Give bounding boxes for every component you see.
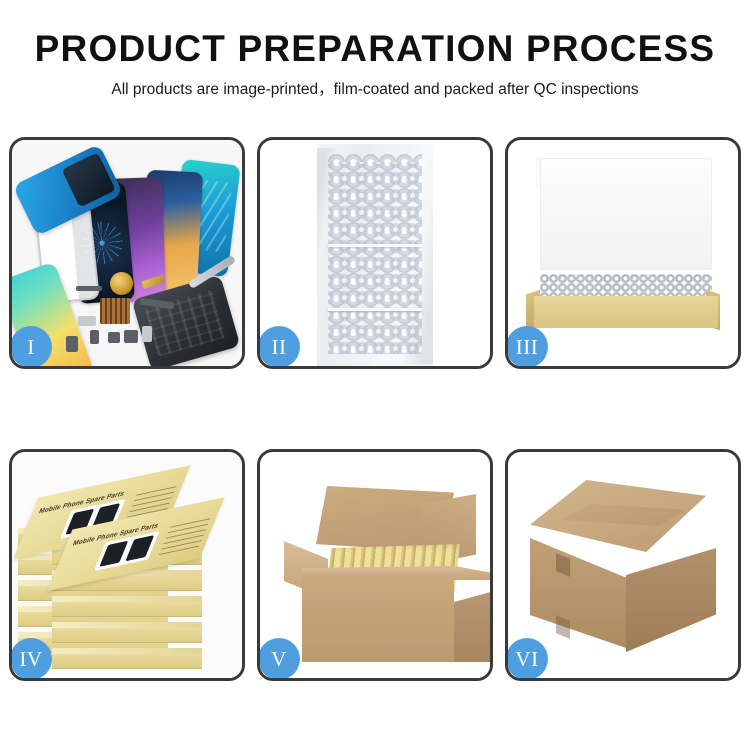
box-lid-panel xyxy=(540,158,712,270)
step-badge-5: V xyxy=(258,638,300,680)
process-step-1[interactable]: I xyxy=(9,137,245,369)
part-metal-shield xyxy=(78,316,96,326)
process-step-grid: I II III xyxy=(9,137,743,681)
kraft-tray-front xyxy=(534,296,718,328)
part-connector-a xyxy=(90,330,99,344)
process-step-3[interactable]: III xyxy=(505,137,741,369)
step-badge-2: II xyxy=(258,326,300,368)
carton-front-face xyxy=(302,578,454,662)
retail-box-layer-8 xyxy=(52,596,202,616)
page-subtitle: All products are image-printed，film-coat… xyxy=(0,82,750,98)
step-badge-1: I xyxy=(10,326,52,368)
step-badge-4: IV xyxy=(10,638,52,680)
bubble-wrap-seam-lower xyxy=(328,308,422,311)
process-step-2[interactable]: II xyxy=(257,137,493,369)
carton-side-face xyxy=(454,590,490,662)
step-badge-3: III xyxy=(506,326,548,368)
part-sim-tray xyxy=(142,326,152,342)
page-header: PRODUCT PREPARATION PROCESS All products… xyxy=(0,0,750,98)
bubble-wrap-shading xyxy=(317,148,433,364)
part-chip-grid xyxy=(100,298,130,324)
process-step-6[interactable]: VI xyxy=(505,449,741,681)
bubble-wrap-seam-upper xyxy=(328,244,422,247)
part-camera-module xyxy=(124,330,138,343)
part-button-set xyxy=(66,336,78,352)
step-badge-6: VI xyxy=(506,638,548,680)
part-connector-b xyxy=(108,332,120,343)
retail-box-stack: Mobile Phone Spare Parts Mobile Phone Sp… xyxy=(16,470,242,678)
process-step-4[interactable]: Mobile Phone Spare Parts Mobile Phone Sp… xyxy=(9,449,245,681)
process-step-5[interactable]: V xyxy=(257,449,493,681)
speaker-part xyxy=(110,272,133,295)
retail-box-layer-10 xyxy=(52,648,202,668)
part-flex-strip xyxy=(76,286,102,291)
retail-box-layer-9 xyxy=(52,622,202,642)
retail-box-spec-text-front xyxy=(159,516,211,555)
page-title: PRODUCT PREPARATION PROCESS xyxy=(0,30,750,67)
